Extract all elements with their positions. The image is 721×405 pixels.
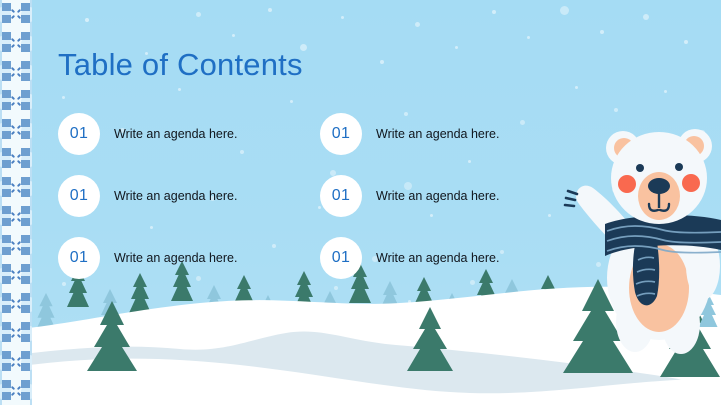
border-square-motif	[2, 218, 11, 226]
bear-cheek-left	[618, 175, 636, 193]
agenda-item-1[interactable]: 01 Write an agenda here.	[58, 103, 320, 165]
border-square-motif	[21, 160, 30, 168]
border-square-motif	[21, 392, 30, 400]
snowflake-icon	[11, 68, 21, 77]
snowflake-icon	[11, 358, 21, 367]
border-square-motif	[21, 44, 30, 52]
border-square-motif	[2, 334, 11, 342]
border-square-motif	[2, 305, 11, 313]
border-square-motif	[21, 380, 30, 388]
border-square-motif	[21, 276, 30, 284]
agenda-number-badge: 01	[320, 175, 362, 217]
agenda-item-label: Write an agenda here.	[114, 251, 237, 265]
agenda-number-badge: 01	[58, 175, 100, 217]
snowflake-icon	[11, 126, 21, 135]
border-square-motif	[21, 61, 30, 69]
agenda-number-badge: 01	[320, 113, 362, 155]
snowflake-icon	[11, 271, 21, 280]
border-square-motif	[2, 102, 11, 110]
polar-bear-character	[561, 110, 721, 370]
border-square-motif	[21, 351, 30, 359]
border-square-motif	[2, 148, 11, 156]
border-square-motif	[21, 235, 30, 243]
border-square-motif	[21, 363, 30, 371]
border-square-motif	[2, 61, 11, 69]
border-pattern-tile	[0, 145, 32, 174]
border-square-motif	[21, 264, 30, 272]
border-square-motif	[2, 264, 11, 272]
border-square-motif	[21, 32, 30, 40]
snowflake-icon	[11, 155, 21, 164]
border-square-motif	[2, 32, 11, 40]
border-square-motif	[2, 293, 11, 301]
border-square-motif	[21, 73, 30, 81]
bear-eye-left	[636, 164, 644, 172]
snowflake-icon	[11, 184, 21, 193]
border-square-motif	[21, 119, 30, 127]
agenda-number-badge: 01	[320, 237, 362, 279]
slide-canvas: Table of Contents 01 Write an agenda her…	[0, 0, 721, 405]
border-pattern-tile	[0, 377, 32, 405]
agenda-item-label: Write an agenda here.	[114, 189, 237, 203]
border-pattern-tile	[0, 87, 32, 116]
border-square-motif	[2, 392, 11, 400]
agenda-item-label: Write an agenda here.	[376, 127, 499, 141]
border-square-motif	[2, 235, 11, 243]
border-square-motif	[2, 206, 11, 214]
border-square-motif	[21, 131, 30, 139]
border-pattern-tile	[0, 116, 32, 145]
border-square-motif	[2, 90, 11, 98]
border-pattern-tile	[0, 174, 32, 203]
snowflake-icon	[11, 329, 21, 338]
border-square-motif	[2, 363, 11, 371]
border-pattern-tile	[0, 58, 32, 87]
snowflake-icon	[11, 213, 21, 222]
agenda-item-2[interactable]: 01 Write an agenda here.	[320, 103, 582, 165]
snowflake-icon	[11, 10, 21, 19]
border-pattern-tile	[0, 203, 32, 232]
border-square-motif	[2, 322, 11, 330]
bear-eye-right	[675, 163, 683, 171]
border-pattern-tile	[0, 232, 32, 261]
border-square-motif	[21, 322, 30, 330]
snowflake-icon	[11, 242, 21, 251]
snowflake-icon	[11, 97, 21, 106]
agenda-number-badge: 01	[58, 113, 100, 155]
border-square-motif	[2, 131, 11, 139]
agenda-list: 01 Write an agenda here. 01 Write an age…	[58, 103, 578, 289]
border-pattern-tile	[0, 0, 32, 29]
border-square-motif	[21, 3, 30, 11]
border-square-motif	[2, 15, 11, 23]
border-square-motif	[21, 148, 30, 156]
border-square-motif	[2, 3, 11, 11]
border-square-motif	[21, 206, 30, 214]
agenda-item-3[interactable]: 01 Write an agenda here.	[58, 165, 320, 227]
border-square-motif	[21, 90, 30, 98]
border-square-motif	[2, 276, 11, 284]
agenda-item-label: Write an agenda here.	[376, 251, 499, 265]
agenda-item-5[interactable]: 01 Write an agenda here.	[58, 227, 320, 289]
agenda-item-4[interactable]: 01 Write an agenda here.	[320, 165, 582, 227]
border-square-motif	[2, 380, 11, 388]
agenda-number-badge: 01	[58, 237, 100, 279]
bear-cheek-right	[682, 174, 700, 192]
border-pattern-tile	[0, 29, 32, 58]
snowflake-icon	[11, 387, 21, 396]
border-square-motif	[21, 189, 30, 197]
border-square-motif	[21, 177, 30, 185]
border-square-motif	[21, 305, 30, 313]
border-square-motif	[21, 247, 30, 255]
border-square-motif	[2, 247, 11, 255]
border-square-motif	[2, 160, 11, 168]
border-square-motif	[2, 119, 11, 127]
left-decorative-border	[0, 0, 32, 405]
agenda-item-label: Write an agenda here.	[114, 127, 237, 141]
border-pattern-tile	[0, 290, 32, 319]
border-square-motif	[21, 102, 30, 110]
border-pattern-tile	[0, 261, 32, 290]
border-square-motif	[21, 293, 30, 301]
border-square-motif	[2, 189, 11, 197]
border-square-motif	[2, 177, 11, 185]
border-pattern-tile	[0, 319, 32, 348]
border-square-motif	[2, 73, 11, 81]
agenda-item-6[interactable]: 01 Write an agenda here.	[320, 227, 582, 289]
snowflake-icon	[11, 300, 21, 309]
border-square-motif	[21, 218, 30, 226]
border-square-motif	[21, 334, 30, 342]
agenda-item-label: Write an agenda here.	[376, 189, 499, 203]
snowflake-icon	[11, 39, 21, 48]
border-square-motif	[2, 351, 11, 359]
page-title: Table of Contents	[58, 47, 303, 83]
border-pattern-tile	[0, 348, 32, 377]
border-square-motif	[2, 44, 11, 52]
border-square-motif	[21, 15, 30, 23]
